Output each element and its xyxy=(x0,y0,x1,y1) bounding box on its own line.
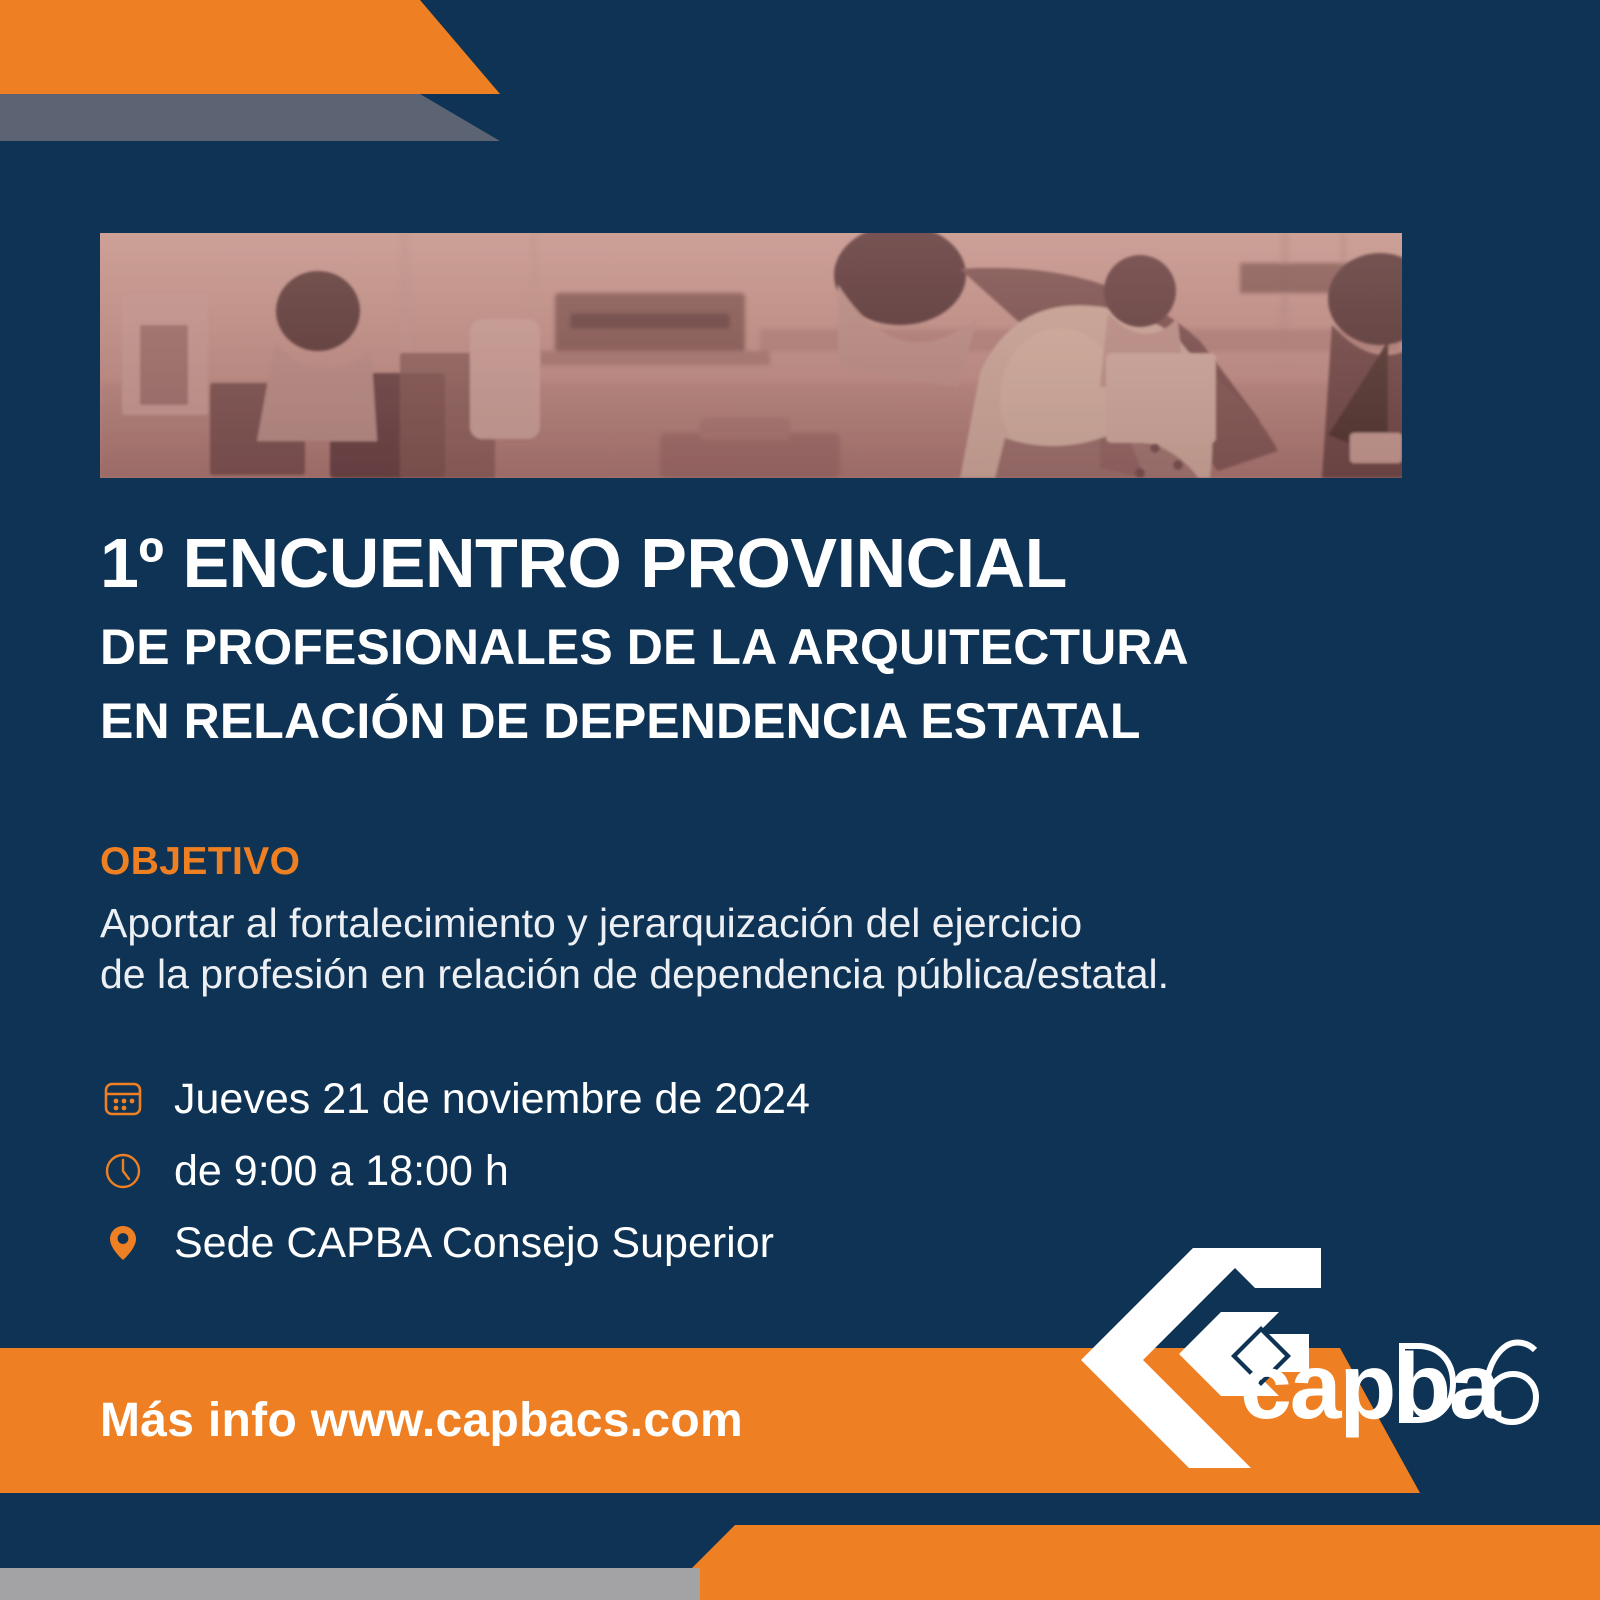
header-photo-illustration xyxy=(100,233,1402,478)
objective-heading: OBJETIVO xyxy=(100,840,1500,884)
detail-row-location: Sede CAPBA Consejo Superior xyxy=(100,1212,810,1274)
capba-logo-svg: capba xyxy=(1065,1238,1575,1468)
detail-row-date: Jueves 21 de noviembre de 2024 xyxy=(100,1068,810,1130)
objective-section: OBJETIVO Aportar al fortalecimiento y je… xyxy=(100,840,1500,1001)
more-info-text: Más info www.capbacs.com xyxy=(100,1370,743,1470)
detail-row-time: de 9:00 a 18:00 h xyxy=(100,1140,810,1202)
event-details-list: Jueves 21 de noviembre de 2024 de 9:00 a… xyxy=(100,1068,810,1284)
detail-location-text: Sede CAPBA Consejo Superior xyxy=(174,1222,774,1265)
objective-body: Aportar al fortalecimiento y jerarquizac… xyxy=(100,898,1500,1001)
title-line-3: EN RELACIÓN DE DEPENDENCIA ESTATAL xyxy=(100,696,1500,746)
calendar-icon xyxy=(100,1076,146,1122)
header-photo xyxy=(100,233,1402,478)
title-line-1: 1º ENCUENTRO PROVINCIAL xyxy=(100,528,1500,598)
capba-wordmark: capba xyxy=(1240,1334,1502,1438)
detail-date-text: Jueves 21 de noviembre de 2024 xyxy=(174,1078,810,1121)
location-pin-icon xyxy=(100,1220,146,1266)
top-orange-banner xyxy=(0,0,500,94)
bottom-gray-bar xyxy=(0,1568,700,1600)
detail-time-text: de 9:00 a 18:00 h xyxy=(174,1150,509,1193)
clock-icon xyxy=(100,1148,146,1194)
objective-body-line-2: de la profesión en relación de dependenc… xyxy=(100,949,1500,1000)
title-line-2: DE PROFESIONALES DE LA ARQUITECTURA xyxy=(100,622,1500,672)
capba-logo: capba xyxy=(1065,1238,1575,1468)
page-title: 1º ENCUENTRO PROVINCIAL DE PROFESIONALES… xyxy=(100,528,1500,746)
objective-body-line-1: Aportar al fortalecimiento y jerarquizac… xyxy=(100,898,1500,949)
top-gray-banner xyxy=(0,94,500,141)
poster-canvas: 1º ENCUENTRO PROVINCIAL DE PROFESIONALES… xyxy=(0,0,1600,1600)
